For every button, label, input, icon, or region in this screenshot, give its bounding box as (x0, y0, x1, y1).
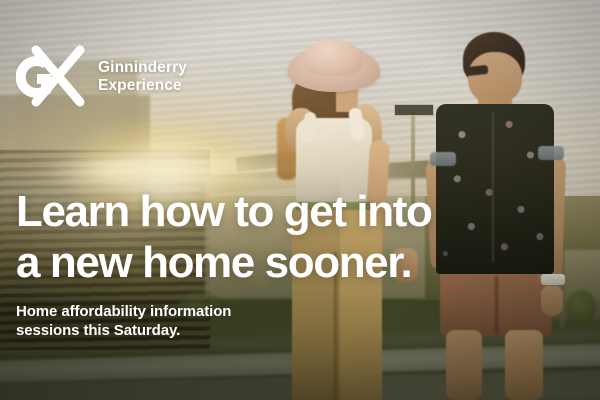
subheading-line-2: sessions this Saturday. (16, 321, 576, 340)
promotional-banner: Ginninderry Experience Learn how to get … (0, 0, 600, 400)
brand-name: Ginninderry Experience (98, 59, 187, 95)
subheading: Home affordability information sessions … (16, 302, 576, 340)
brand-name-line2: Experience (98, 77, 182, 94)
gx-monogram-icon (16, 42, 90, 112)
subheading-line-1: Home affordability information (16, 302, 576, 321)
headline: Learn how to get into a new home sooner. (16, 186, 576, 288)
brand-name-line1: Ginninderry (98, 59, 187, 76)
copy-block: Learn how to get into a new home sooner.… (16, 186, 576, 340)
headline-line-1: Learn how to get into (16, 186, 576, 237)
brand-logo[interactable]: Ginninderry Experience (16, 42, 187, 112)
headline-line-2: a new home sooner. (16, 237, 576, 288)
